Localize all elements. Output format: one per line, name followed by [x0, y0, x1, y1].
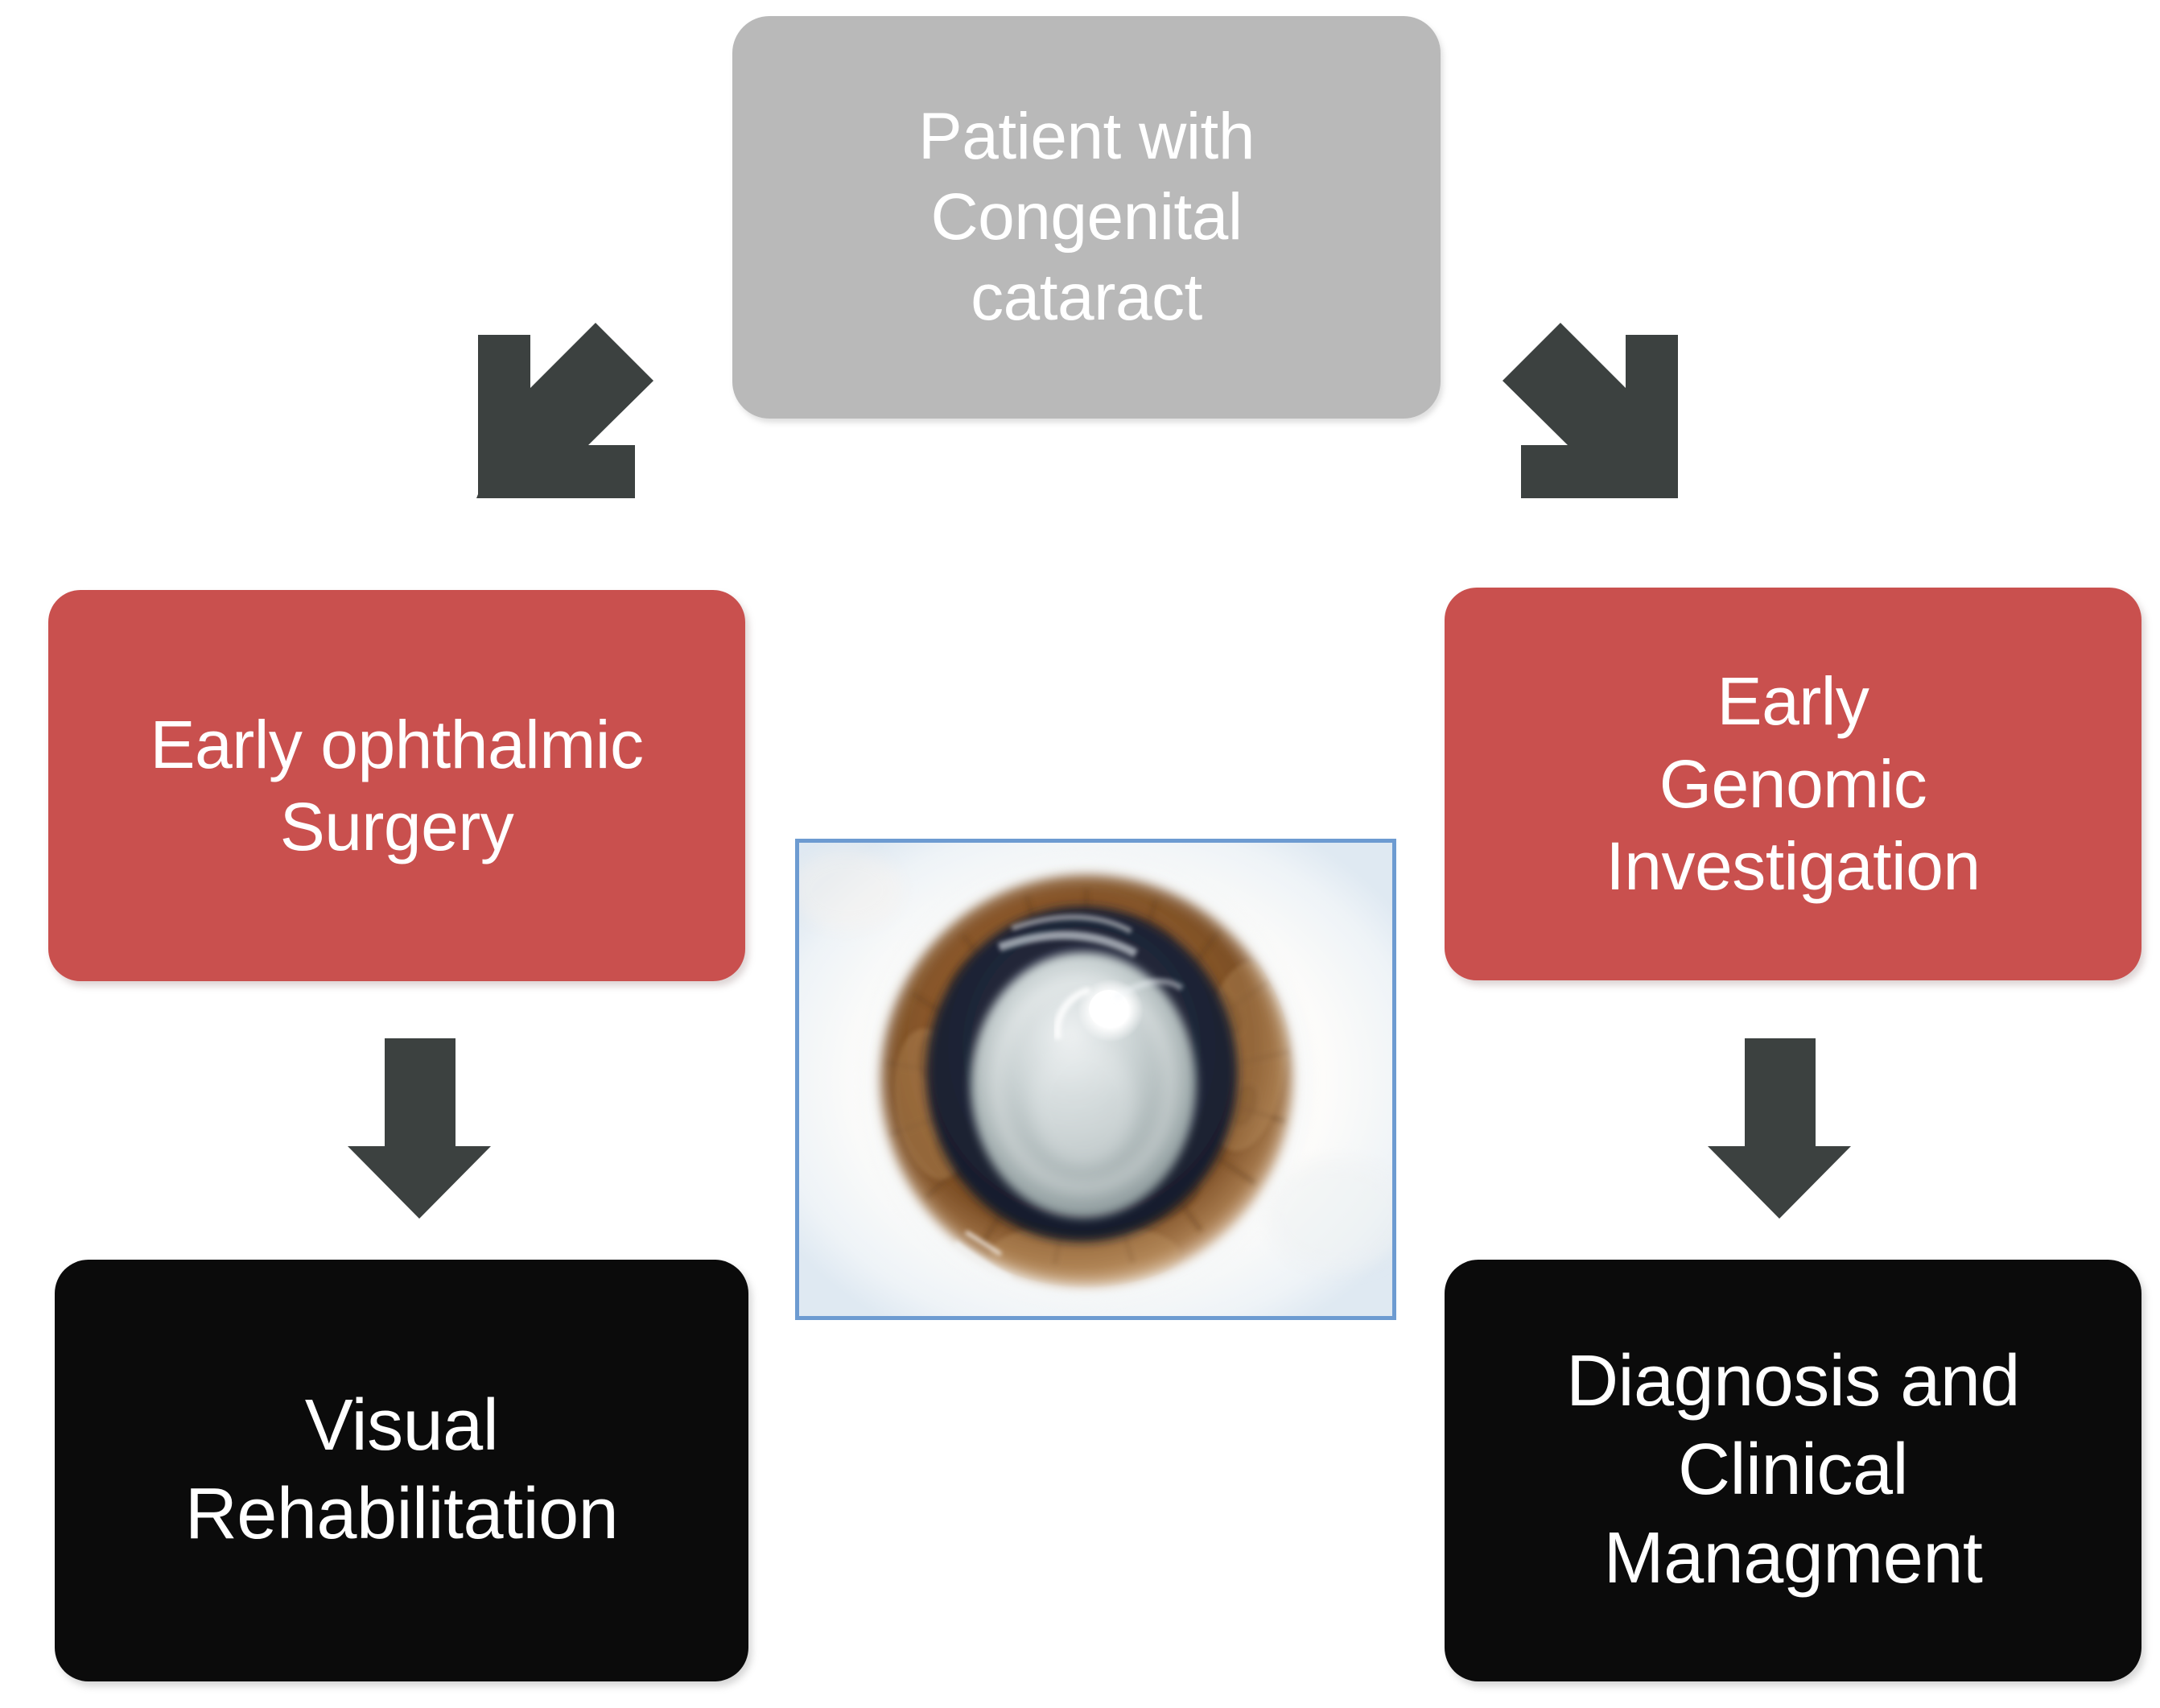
- arrow-down-left-icon: [476, 320, 657, 501]
- node-rehab-label: Visual Rehabilitation: [55, 1382, 748, 1559]
- congenital-cataract-eye-photo: [795, 839, 1396, 1320]
- arrow-down-right-icon: [1502, 322, 1682, 502]
- eye-with-cataract-image: [799, 843, 1392, 1316]
- node-diagnosis-and-clinical-managment[interactable]: Diagnosis and Clinical Managment: [1445, 1260, 2141, 1681]
- node-genomic-label: Early Genomic Investigation: [1445, 660, 2141, 907]
- arrow-root-to-surgery: [476, 320, 657, 501]
- node-patient-with-congenital-cataract[interactable]: Patient with Congenital cataract: [732, 16, 1441, 419]
- node-diagnosis-label: Diagnosis and Clinical Managment: [1445, 1338, 2141, 1603]
- node-surgery-label: Early ophthalmic Surgery: [48, 703, 745, 868]
- node-root-label: Patient with Congenital cataract: [732, 97, 1441, 338]
- arrow-down-icon: [1706, 1035, 1853, 1222]
- node-early-ophthalmic-surgery[interactable]: Early ophthalmic Surgery: [48, 590, 745, 981]
- arrow-root-to-genomic: [1502, 322, 1682, 502]
- arrow-surgery-to-rehabilitation: [346, 1035, 493, 1222]
- node-visual-rehabilitation[interactable]: Visual Rehabilitation: [55, 1260, 748, 1681]
- node-early-genomic-investigation[interactable]: Early Genomic Investigation: [1445, 588, 2141, 980]
- flowchart-canvas: Patient with Congenital cataract Early o…: [0, 0, 2160, 1708]
- arrow-genomic-to-diagnosis: [1706, 1035, 1853, 1222]
- arrow-down-icon: [346, 1035, 493, 1222]
